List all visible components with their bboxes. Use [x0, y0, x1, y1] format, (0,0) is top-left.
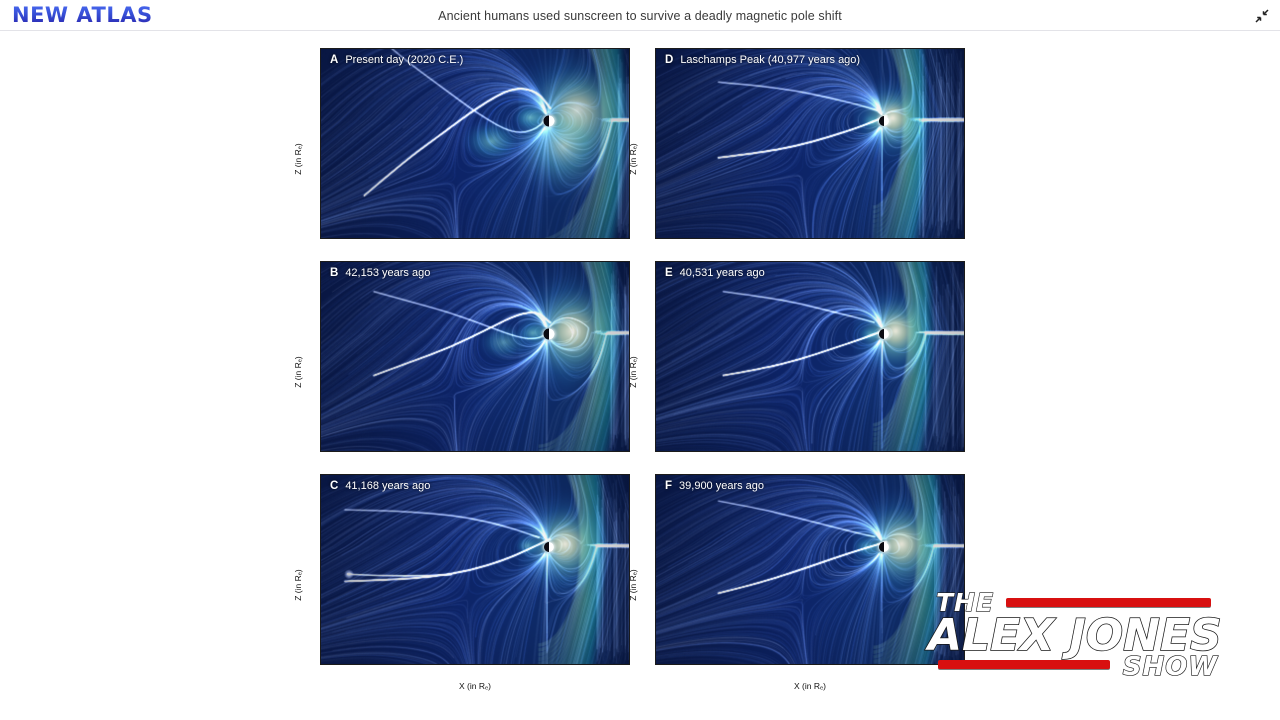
- y-tick-mark: [655, 333, 656, 334]
- y-tick-mark: [655, 475, 656, 476]
- panel-e: Z (in Rₑ)E40,531 years ago151050-5-10-15…: [609, 261, 969, 482]
- panel-d: Z (in Rₑ)DLaschamps Peak (40,977 years a…: [609, 48, 969, 269]
- y-tick-mark: [320, 144, 321, 145]
- earth-marker: [544, 542, 554, 552]
- panel-title: 40,531 years ago: [680, 267, 765, 279]
- y-tick-mark: [655, 72, 656, 73]
- panel-label-d: DLaschamps Peak (40,977 years ago): [665, 54, 860, 66]
- y-tick-mark: [320, 262, 321, 263]
- watermark-bar-bottom: [938, 660, 1110, 669]
- x-tick-mark: [786, 451, 787, 452]
- y-axis-label: Z (in Rₑ): [628, 356, 638, 388]
- x-tick-mark: [548, 664, 549, 665]
- x-tick-mark: [548, 451, 549, 452]
- y-tick-mark: [655, 216, 656, 217]
- x-tick-mark: [354, 664, 355, 665]
- y-tick-mark: [320, 546, 321, 547]
- plot-area-d: DLaschamps Peak (40,977 years ago)151050…: [655, 48, 965, 239]
- magnetosphere-render: [656, 475, 964, 664]
- screen: NEW ATLAS Ancient humans used sunscreen …: [0, 0, 1280, 720]
- y-tick-mark: [655, 618, 656, 619]
- x-tick-mark: [689, 664, 690, 665]
- y-axis-label: Z (in Rₑ): [293, 569, 303, 601]
- y-axis-label: Z (in Rₑ): [628, 569, 638, 601]
- y-tick-mark: [655, 522, 656, 523]
- y-tick-mark: [320, 49, 321, 50]
- y-tick-mark: [655, 309, 656, 310]
- panel-letter: A: [330, 54, 338, 66]
- y-tick-mark: [320, 405, 321, 406]
- x-tick-mark: [354, 451, 355, 452]
- plot-area-c: C41,168 years ago151050-5-10-15-20-25-40…: [320, 474, 630, 665]
- y-tick-mark: [320, 285, 321, 286]
- x-tick-mark: [689, 238, 690, 239]
- magnetosphere-render: [321, 262, 629, 451]
- collapse-inward-icon[interactable]: [1252, 6, 1272, 26]
- y-tick-mark: [655, 546, 656, 547]
- page-header: NEW ATLAS Ancient humans used sunscreen …: [0, 0, 1280, 31]
- panel-f: Z (in Rₑ)F39,900 years ago151050-5-10-15…: [609, 474, 969, 695]
- x-tick-mark: [835, 238, 836, 239]
- x-tick-mark: [500, 451, 501, 452]
- y-tick-mark: [320, 522, 321, 523]
- panel-letter: B: [330, 267, 338, 279]
- y-tick-mark: [655, 192, 656, 193]
- y-tick-mark: [655, 96, 656, 97]
- x-axis-label: X (in Rₑ): [320, 681, 630, 691]
- earth-marker: [879, 116, 889, 126]
- x-tick-mark: [932, 451, 933, 452]
- y-tick-mark: [655, 168, 656, 169]
- magnetosphere-render: [656, 49, 964, 238]
- x-tick-mark: [451, 238, 452, 239]
- x-tick-mark: [500, 664, 501, 665]
- y-tick-mark: [320, 498, 321, 499]
- x-tick-mark: [451, 451, 452, 452]
- x-tick-mark: [883, 664, 884, 665]
- y-axis-label: Z (in Rₑ): [293, 356, 303, 388]
- x-tick-mark: [689, 451, 690, 452]
- panel-label-c: C41,168 years ago: [330, 480, 430, 492]
- panel-letter: C: [330, 480, 338, 492]
- y-tick-mark: [655, 262, 656, 263]
- y-tick-mark: [655, 120, 656, 121]
- y-tick-mark: [655, 144, 656, 145]
- x-tick-mark: [738, 238, 739, 239]
- y-tick-mark: [655, 285, 656, 286]
- x-tick-mark: [597, 451, 598, 452]
- y-tick-mark: [320, 120, 321, 121]
- y-tick-mark: [655, 642, 656, 643]
- panel-a: Z (in Rₑ)APresent day (2020 C.E.)151050-…: [274, 48, 634, 269]
- y-axis-label: Z (in Rₑ): [628, 143, 638, 175]
- earth-marker: [879, 329, 889, 339]
- earth-marker: [879, 542, 889, 552]
- x-tick-mark: [451, 664, 452, 665]
- x-tick-mark: [597, 238, 598, 239]
- x-tick-mark: [786, 238, 787, 239]
- y-tick-mark: [320, 570, 321, 571]
- y-axis-label: Z (in Rₑ): [293, 143, 303, 175]
- x-tick-mark: [597, 664, 598, 665]
- x-tick-mark: [548, 238, 549, 239]
- plot-area-e: E40,531 years ago151050-5-10-15-20-25-40…: [655, 261, 965, 452]
- y-tick-mark: [320, 357, 321, 358]
- x-tick-mark: [835, 664, 836, 665]
- panel-b: Z (in Rₑ)B42,153 years ago151050-5-10-15…: [274, 261, 634, 482]
- alex-jones-show-watermark: THE ALEX JONES SHOW: [924, 586, 1224, 684]
- x-tick-mark: [883, 451, 884, 452]
- panel-title: 41,168 years ago: [345, 480, 430, 492]
- plot-area-b: B42,153 years ago151050-5-10-15-20-25-40…: [320, 261, 630, 452]
- panel-label-f: F39,900 years ago: [665, 480, 764, 492]
- y-tick-mark: [320, 309, 321, 310]
- y-tick-mark: [655, 405, 656, 406]
- y-tick-mark: [320, 216, 321, 217]
- panel-label-e: E40,531 years ago: [665, 267, 765, 279]
- y-tick-mark: [320, 96, 321, 97]
- y-tick-mark: [320, 594, 321, 595]
- y-tick-mark: [320, 381, 321, 382]
- y-tick-mark: [655, 381, 656, 382]
- panel-letter: D: [665, 54, 673, 66]
- y-tick-mark: [655, 498, 656, 499]
- plot-area-f: F39,900 years ago151050-5-10-15-20-25-40…: [655, 474, 965, 665]
- x-tick-mark: [883, 238, 884, 239]
- y-tick-mark: [655, 594, 656, 595]
- panel-title: 42,153 years ago: [345, 267, 430, 279]
- panel-title: Laschamps Peak (40,977 years ago): [680, 54, 860, 66]
- y-tick-mark: [655, 49, 656, 50]
- x-tick-mark: [354, 238, 355, 239]
- y-tick-mark: [655, 357, 656, 358]
- plot-area-a: APresent day (2020 C.E.)151050-5-10-15-2…: [320, 48, 630, 239]
- y-tick-mark: [655, 570, 656, 571]
- y-tick-mark: [320, 642, 321, 643]
- y-tick-mark: [320, 168, 321, 169]
- y-tick-mark: [655, 429, 656, 430]
- y-tick-mark: [320, 429, 321, 430]
- x-axis-label: X (in Rₑ): [655, 681, 965, 691]
- panel-c: Z (in Rₑ)C41,168 years ago151050-5-10-15…: [274, 474, 634, 695]
- watermark-bar-top: [1006, 598, 1211, 607]
- x-tick-mark: [786, 664, 787, 665]
- x-tick-mark: [835, 451, 836, 452]
- y-tick-mark: [320, 475, 321, 476]
- magnetosphere-render: [656, 262, 964, 451]
- y-tick-mark: [320, 192, 321, 193]
- x-tick-mark: [403, 451, 404, 452]
- earth-marker: [543, 328, 554, 339]
- y-tick-mark: [320, 333, 321, 334]
- panel-label-b: B42,153 years ago: [330, 267, 430, 279]
- x-tick-mark: [738, 451, 739, 452]
- y-tick-mark: [320, 72, 321, 73]
- x-tick-mark: [500, 238, 501, 239]
- x-tick-mark: [403, 664, 404, 665]
- x-tick-mark: [932, 238, 933, 239]
- magnetosphere-render: [321, 49, 629, 238]
- watermark-show: SHOW: [1123, 652, 1218, 682]
- magnetosphere-render: [321, 475, 629, 664]
- panel-letter: F: [665, 480, 672, 492]
- panel-title: Present day (2020 C.E.): [345, 54, 463, 66]
- x-tick-mark: [403, 238, 404, 239]
- y-tick-mark: [320, 618, 321, 619]
- panel-letter: E: [665, 267, 673, 279]
- page-title: Ancient humans used sunscreen to survive…: [0, 0, 1280, 31]
- x-tick-mark: [738, 664, 739, 665]
- panel-label-a: APresent day (2020 C.E.): [330, 54, 463, 66]
- earth-marker: [543, 115, 554, 126]
- panel-title: 39,900 years ago: [679, 480, 764, 492]
